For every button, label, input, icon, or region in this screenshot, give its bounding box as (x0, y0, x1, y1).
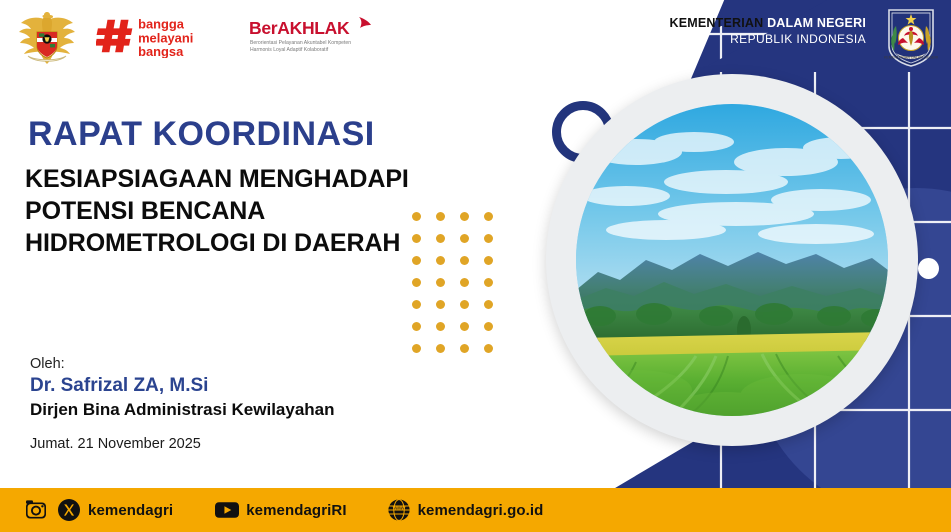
garuda-pancasila-icon (14, 8, 80, 64)
gold-dot-grid-decoration (412, 212, 508, 366)
svg-text:www: www (391, 505, 405, 511)
speaker-block: Oleh: Dr. Safrizal ZA, M.Si Dirjen Bina … (30, 356, 335, 422)
footer-item-youtube[interactable]: kemendagriRI (173, 498, 346, 522)
kemendagri-shield-icon: KEMENTERIAN DALAM NEGERI (879, 6, 943, 68)
ministry-kementerian: KEMENTERIAN (670, 16, 764, 30)
logo-bar: bangga melayani bangsa BerAKHLAK Berorie… (0, 0, 381, 72)
speaker-role: Dirjen Bina Administrasi Kewilayahan (30, 399, 335, 422)
footer-label-x: kemendagri (88, 502, 173, 519)
landscape-photo (576, 104, 888, 416)
presentation-slide: bangga melayani bangsa BerAKHLAK Berorie… (0, 0, 951, 532)
berakhlak-title: BerAKHLAK (249, 18, 350, 38)
event-date: Jumat. 21 November 2025 (30, 436, 201, 452)
berakhlak-tagline-1: Berorientasi Pelayanan Akuntabel Kompete… (250, 40, 351, 46)
footer-item-x[interactable]: kemendagri (48, 498, 173, 522)
ministry-header: KEMENTERIAN DALAM NEGERI REPUBLIK INDONE… (670, 16, 867, 47)
bangga-melayani-bangsa-logo: bangga melayani bangsa (96, 14, 239, 58)
page-subtitle: KESIAPSIAGAAN MENGHADAPI POTENSI BENCANA… (25, 163, 409, 259)
speaker-name: Dr. Safrizal ZA, M.Si (30, 374, 335, 399)
berakhlak-logo: BerAKHLAK Berorientasi Pelayanan Akuntab… (249, 16, 381, 56)
ministry-line-1: KEMENTERIAN DALAM NEGERI (670, 16, 867, 32)
footer-label-website: kemendagri.go.id (418, 502, 544, 519)
instagram-icon[interactable] (24, 498, 48, 522)
berakhlak-tagline-2: Harmonis Loyal Adaptif Kolaboratif (250, 47, 329, 53)
youtube-icon[interactable] (215, 498, 239, 522)
svg-text:KEMENTERIAN DALAM NEGERI: KEMENTERIAN DALAM NEGERI (884, 56, 938, 60)
speaker-prefix: Oleh: (30, 356, 335, 372)
ministry-line-2: REPUBLIK INDONESIA (670, 32, 867, 47)
footer-label-youtube: kemendagriRI (246, 502, 346, 519)
ministry-dalam-negeri: DALAM NEGERI (767, 16, 866, 30)
rice-field-mountain-scenery (576, 104, 888, 416)
bmb-line1: bangga (138, 16, 185, 31)
bmb-line3: bangsa (138, 44, 184, 58)
subtitle-line-1: KESIAPSIAGAAN MENGHADAPI (25, 163, 409, 195)
page-title: RAPAT KOORDINASI (28, 116, 375, 153)
x-twitter-icon[interactable] (57, 498, 81, 522)
subtitle-line-2: POTENSI BENCANA (25, 195, 409, 227)
subtitle-line-3: HIDROMETROLOGI DI DAERAH (25, 227, 409, 259)
footer-item-website[interactable]: www kemendagri.go.id (347, 498, 544, 522)
white-dot-decoration (918, 258, 939, 279)
globe-www-icon[interactable]: www (387, 498, 411, 522)
footer-bar: kemendagri kemendagriRI www kemendagri.g… (0, 488, 951, 532)
